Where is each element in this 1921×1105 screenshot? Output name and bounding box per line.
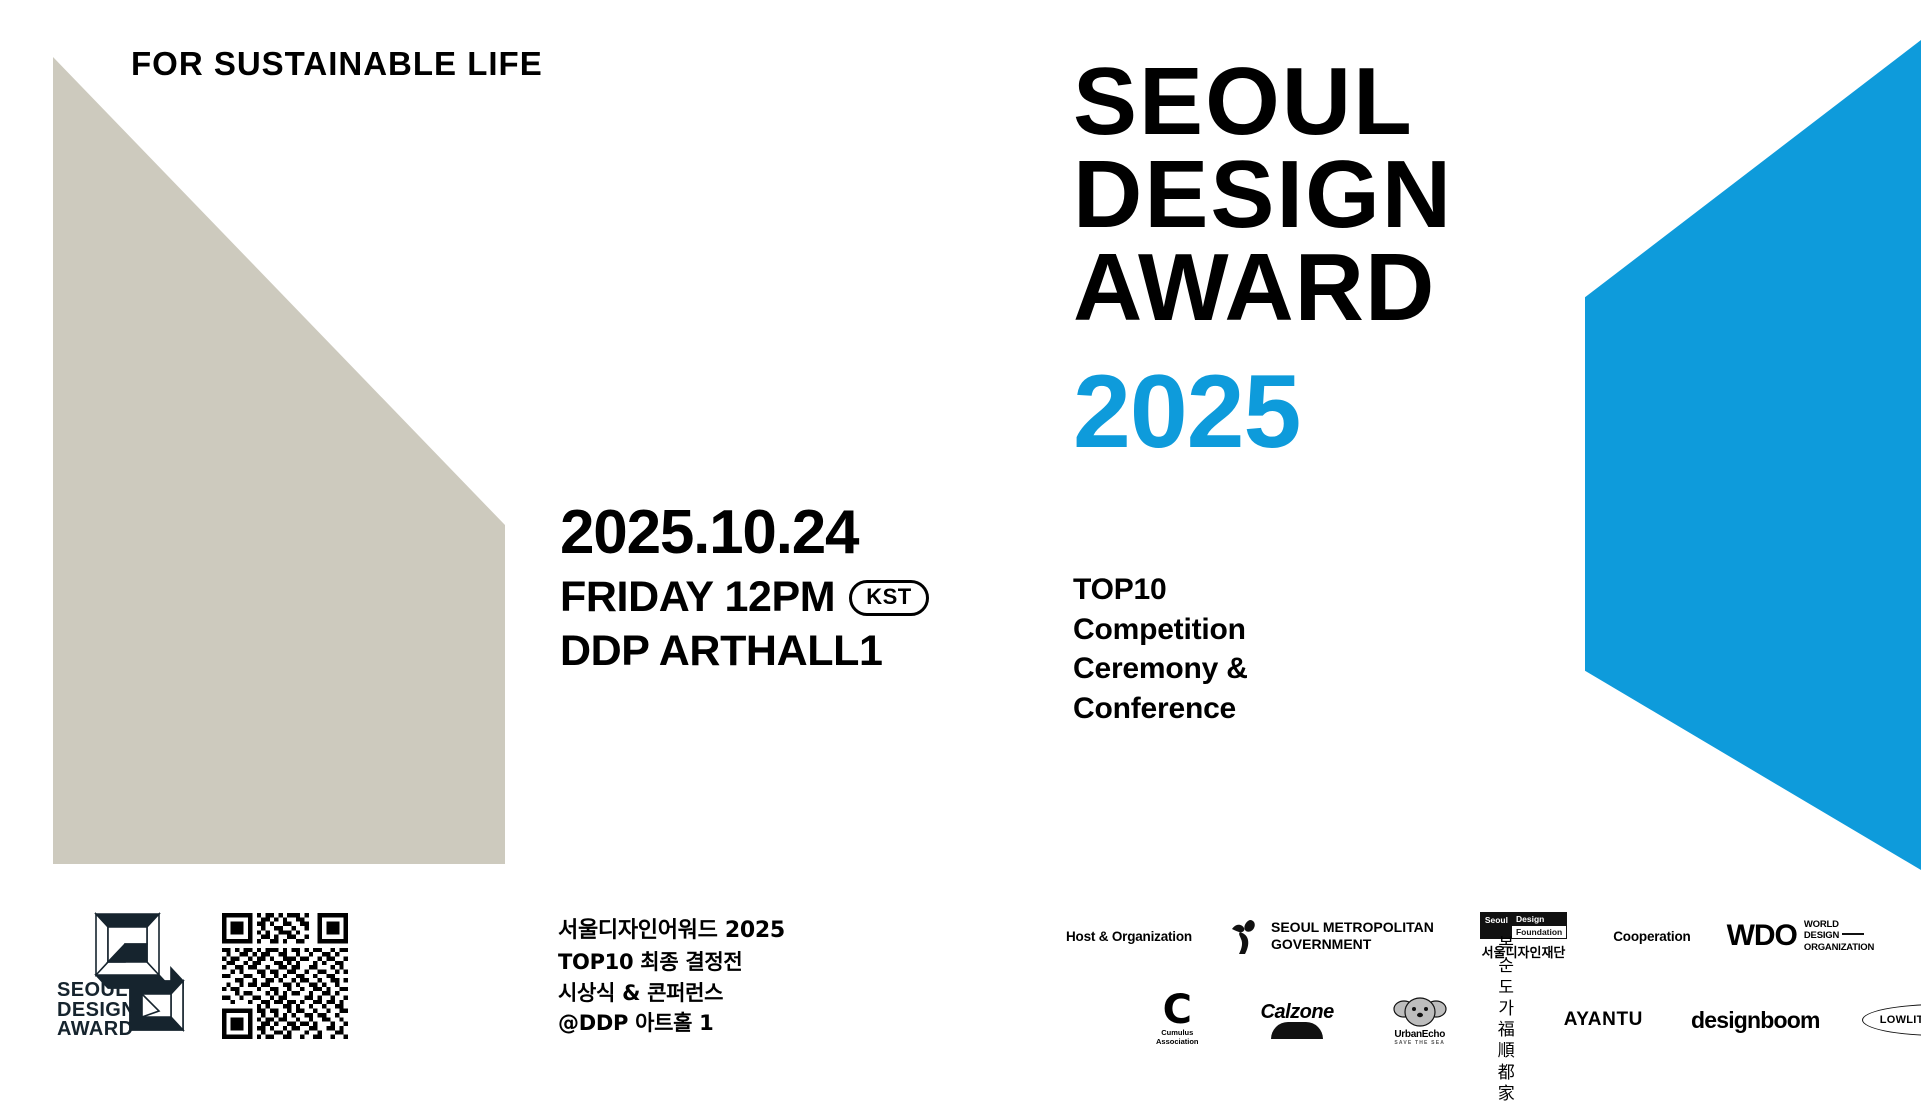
- cumulus-name: Cumulus Association: [1156, 1028, 1199, 1046]
- qr-code[interactable]: [222, 913, 348, 1039]
- korean-line-1: TOP10 최종 결정전: [558, 947, 785, 978]
- subtitle-line-4: Conference: [1073, 689, 1248, 729]
- sdf-box-design: Design: [1512, 913, 1566, 926]
- wdo-line-2: DESIGN: [1804, 930, 1839, 941]
- ayantu-logo: AYANTU: [1564, 1009, 1643, 1031]
- wdo-line-3: ORGANIZATION: [1804, 942, 1874, 953]
- boksoondoga-logo: 복순도가 福順都家: [1498, 935, 1516, 1105]
- sponsor-row-partners: C Cumulus Association Calzone: [1066, 980, 1906, 1060]
- sponsor-row-primary: Host & Organization SEOUL METROPOLITAN G…: [1066, 900, 1906, 972]
- event-day-time: FRIDAY 12PM: [560, 573, 835, 621]
- subtitle-line-1: TOP10: [1073, 570, 1248, 610]
- wdo-line-1: WORLD: [1804, 919, 1874, 930]
- logo-text-seoul: SEOUL: [57, 979, 128, 1001]
- subtitle-line-2: Competition: [1073, 610, 1248, 650]
- cooperation-label: Cooperation: [1613, 929, 1690, 944]
- poster-canvas: FOR SUSTAINABLE LIFE 2025.10.24 FRIDAY 1…: [0, 0, 1921, 1081]
- event-details-block: 2025.10.24 FRIDAY 12PM KST DDP ARTHALL1: [560, 501, 929, 675]
- urban-echo-tagline: SAVE THE SEA: [1394, 1040, 1445, 1046]
- calzone-dome-mark: [1271, 1022, 1323, 1039]
- boksoondoga-hanja: 福順都家: [1498, 1020, 1516, 1105]
- sdf-box-foundation: Foundation: [1512, 926, 1566, 938]
- main-title-block: SEOUL DESIGN AWARD 2025: [1073, 55, 1453, 464]
- sdf-box-seoul: Seoul: [1481, 913, 1512, 938]
- cumulus-mark: C: [1163, 994, 1192, 1026]
- designboom-logo: designboom: [1691, 1007, 1820, 1034]
- wdo-rule: [1842, 933, 1864, 935]
- seoul-design-foundation-logo: Seoul Design Foundation 서울디자인재단: [1480, 912, 1567, 961]
- seoul-design-award-logo: SEOUL DESIGN AWARD: [55, 908, 190, 1036]
- sdf-mark: Seoul Design Foundation: [1480, 912, 1567, 939]
- subtitle-line-3: Ceremony &: [1073, 649, 1248, 689]
- cumulus-line-1: Cumulus: [1156, 1028, 1199, 1037]
- seoul-metropolitan-government-logo: SEOUL METROPOLITAN GOVERNMENT: [1228, 918, 1434, 954]
- boksoondoga-hangul: 복순도가: [1498, 935, 1516, 1020]
- urban-echo-logo: UrbanEcho SAVE THE SEA: [1392, 995, 1448, 1046]
- urban-echo-bear-icon: [1392, 995, 1448, 1029]
- calzone-wordmark: Calzone: [1261, 1001, 1334, 1024]
- tagline: FOR SUSTAINABLE LIFE: [131, 47, 543, 80]
- event-time-row: FRIDAY 12PM KST: [560, 573, 929, 621]
- korean-info-block: 서울디자인어워드 2025 TOP10 최종 결정전 시상식 & 콘퍼런스 @D…: [558, 914, 785, 1039]
- korean-title: 서울디자인어워드 2025: [558, 914, 785, 947]
- smg-line-1: SEOUL METROPOLITAN: [1271, 919, 1434, 936]
- cumulus-association-logo: C Cumulus Association: [1156, 994, 1199, 1046]
- subtitle-block: TOP10 Competition Ceremony & Conference: [1073, 570, 1248, 728]
- title-year: 2025: [1073, 360, 1453, 464]
- korean-line-2: 시상식 & 콘퍼런스: [558, 978, 785, 1009]
- event-venue: DDP ARTHALL1: [560, 627, 929, 675]
- blue-trapezoid-shape: [1585, 40, 1921, 870]
- korean-line-3: @DDP 아트홀 1: [558, 1008, 785, 1039]
- wdo-abbr: WDO: [1727, 921, 1797, 951]
- sdf-korean-name: 서울디자인재단: [1482, 942, 1566, 961]
- sponsor-area: Host & Organization SEOUL METROPOLITAN G…: [1066, 900, 1906, 1060]
- title-line-design: DESIGN: [1073, 148, 1453, 241]
- beige-polygon-shape: [53, 57, 505, 864]
- smg-line-2: GOVERNMENT: [1271, 936, 1434, 953]
- lowlit-collective-logo: LOWLIT COLLECTIVE: [1862, 1004, 1921, 1036]
- wdo-fullname: WORLD DESIGN ORGANIZATION: [1804, 919, 1874, 953]
- calzone-logo: Calzone: [1261, 1001, 1334, 1039]
- logo-text-award: AWARD: [57, 1018, 133, 1036]
- cumulus-line-2: Association: [1156, 1037, 1199, 1046]
- timezone-badge: KST: [849, 580, 929, 616]
- urban-echo-name: UrbanEcho: [1394, 1029, 1445, 1040]
- seoul-government-mark: [1228, 918, 1262, 954]
- title-line-seoul: SEOUL: [1073, 55, 1453, 148]
- event-date: 2025.10.24: [560, 501, 929, 565]
- host-organization-label: Host & Organization: [1066, 929, 1184, 944]
- title-line-award: AWARD: [1073, 241, 1453, 334]
- wdo-logo: WDO WORLD DESIGN ORGANIZATION: [1727, 919, 1875, 953]
- seoul-government-text: SEOUL METROPOLITAN GOVERNMENT: [1271, 919, 1434, 953]
